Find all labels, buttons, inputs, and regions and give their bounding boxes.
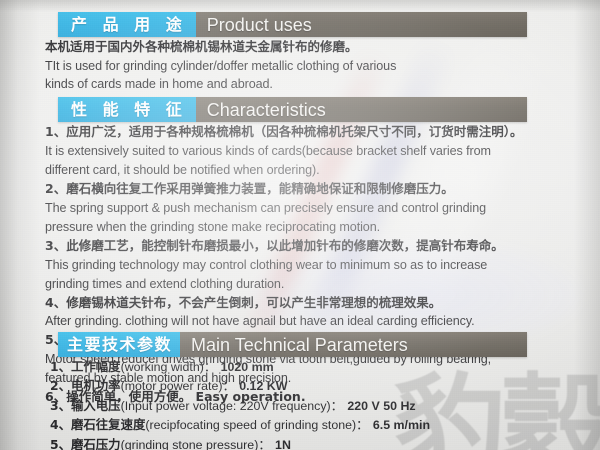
parameter-index: 5、 bbox=[50, 437, 71, 450]
parameter-label-cn: 电机功率 bbox=[71, 378, 121, 393]
section-header-en-main-technical-parameters: Main Technical Parameters bbox=[180, 332, 527, 357]
parameter-label-cn: 工作幅度 bbox=[71, 359, 121, 374]
body-line: 本机适用于国内外各种梳棉机锡林道夫金属针布的修磨。 bbox=[45, 41, 396, 54]
parameter-label-cn: 磨石压力 bbox=[71, 437, 121, 450]
body-line: grinding times and extend clothing durat… bbox=[45, 278, 522, 291]
poster-photo: 豹豰 产 品 用 途 Product uses 本机适用于国内外各种梳棉机锡林道… bbox=[0, 0, 600, 450]
poster-content: 产 品 用 途 Product uses 本机适用于国内外各种梳棉机锡林道夫金属… bbox=[0, 0, 600, 450]
body-line: 1、应用广泛，适用于各种规格梳棉机（因各种梳棉机托架尺寸不同，订货时需注明）。 bbox=[45, 126, 522, 139]
parameter-label-en: (Input power voltage: 220V frequency)： bbox=[121, 399, 343, 413]
body-line: 2、磨石横向往复工作采用弹簧推力装置，能精确地保证和限制修磨压力。 bbox=[45, 183, 522, 196]
body-line: This grinding technology may control clo… bbox=[45, 259, 522, 272]
section-header-cn-product-uses: 产 品 用 途 bbox=[58, 12, 196, 37]
parameter-label-cn: 磨石往复速度 bbox=[71, 417, 145, 432]
body-line: After grinding. clothing will not have a… bbox=[45, 315, 522, 328]
parameter-row: 2、电机功率(motor power rate)： 0.12 KW bbox=[50, 380, 430, 392]
parameter-index: 2、 bbox=[50, 378, 71, 393]
body-line: different card, it should be notified wh… bbox=[45, 164, 522, 177]
section-header-cn-main-technical-parameters: 主要技术参数 bbox=[58, 332, 180, 357]
body-line: 3、此修磨工艺，能控制针布磨损最小，以此增加针布的修磨次数，提高针布寿命。 bbox=[45, 240, 522, 253]
section-header-product-uses: 产 品 用 途 Product uses bbox=[58, 12, 527, 37]
section-header-cn-characteristics: 性 能 特 征 bbox=[58, 97, 196, 122]
parameter-row: 4、磨石往复速度(recipfocating speed of grinding… bbox=[50, 419, 430, 431]
parameter-label-en: (recipfocating speed of grinding stone)： bbox=[145, 418, 368, 432]
section-header-characteristics: 性 能 特 征 Characteristics bbox=[58, 97, 527, 122]
parameter-value: 1020 mm bbox=[221, 360, 274, 374]
parameter-row: 5、磨石压力(grinding stone pressure)： 1N bbox=[50, 439, 430, 450]
parameter-label-cn: 输入电压 bbox=[71, 398, 121, 413]
parameter-label-en: (grinding stone pressure)： bbox=[121, 438, 271, 450]
parameter-row: 1、工作幅度(working width)： 1020 mm bbox=[50, 361, 430, 373]
body-line: 4、修磨锡林道夫针布，不会产生倒刺，可以产生非常理想的梳理效果。 bbox=[45, 297, 522, 310]
parameter-index: 3、 bbox=[50, 398, 71, 413]
parameter-value: 6.5 m/min bbox=[373, 418, 430, 432]
parameter-value: 0.12 KW bbox=[239, 379, 287, 393]
body-line: kinds of cards made in home and abroad. bbox=[45, 78, 396, 91]
section-header-main-technical-parameters: 主要技术参数 Main Technical Parameters bbox=[58, 332, 527, 357]
body-line: The spring support & push mechanism can … bbox=[45, 202, 522, 215]
parameter-label-en: (motor power rate)： bbox=[121, 379, 235, 393]
section-body-product-uses: 本机适用于国内外各种梳棉机锡林道夫金属针布的修磨。 TIt is used fo… bbox=[45, 41, 396, 91]
section-header-en-characteristics: Characteristics bbox=[196, 97, 527, 122]
parameter-list: 1、工作幅度(working width)： 1020 mm 2、电机功率(mo… bbox=[50, 361, 430, 450]
section-header-en-product-uses: Product uses bbox=[196, 12, 527, 37]
body-line: It is extensively suited to various kind… bbox=[45, 145, 522, 158]
parameter-label-en: (working width)： bbox=[121, 360, 217, 374]
parameter-value: 1N bbox=[275, 438, 291, 450]
parameter-index: 4、 bbox=[50, 417, 71, 432]
body-line: TIt is used for grinding cylinder/doffer… bbox=[45, 60, 396, 73]
parameter-value: 220 V 50 Hz bbox=[347, 399, 415, 413]
parameter-index: 1、 bbox=[50, 359, 71, 374]
parameter-row: 3、输入电压(Input power voltage: 220V frequen… bbox=[50, 400, 430, 412]
body-line: pressure when the grinding stone make re… bbox=[45, 221, 522, 234]
